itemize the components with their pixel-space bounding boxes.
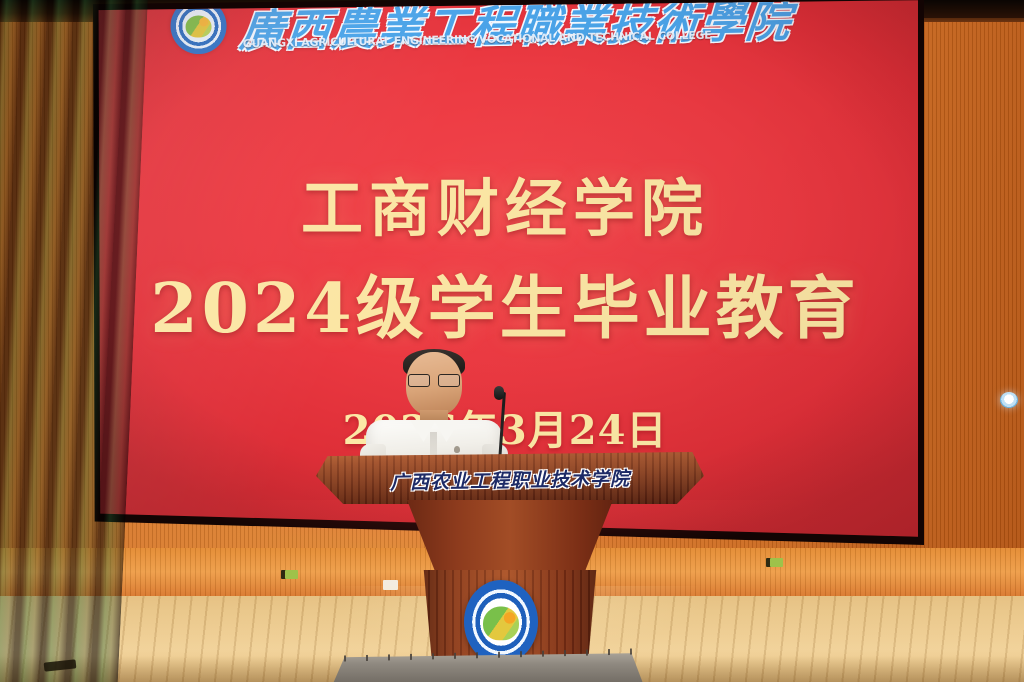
screen-banner: 廣西農業工程職業技術學院 GUANGXI AGRICULTURAL ENGINE… — [92, 0, 918, 90]
banner-chinese-title: 廣西農業工程職業技術學院 — [237, 0, 796, 59]
eyeglasses-icon — [408, 374, 460, 385]
title-line-two: 2024级学生毕业教育 — [92, 253, 918, 352]
photo-scene: 廣西農業工程職業技術學院 GUANGXI AGRICULTURAL ENGINE… — [0, 0, 1024, 682]
lectern: 广西农业工程职业技术学院 — [316, 452, 704, 660]
microphone-head — [494, 386, 504, 400]
wall-outlet-green — [285, 570, 298, 579]
light-reflection-icon — [1000, 392, 1018, 408]
lectern-neck — [378, 500, 642, 574]
title-line-one: 工商财经学院 — [92, 158, 918, 248]
